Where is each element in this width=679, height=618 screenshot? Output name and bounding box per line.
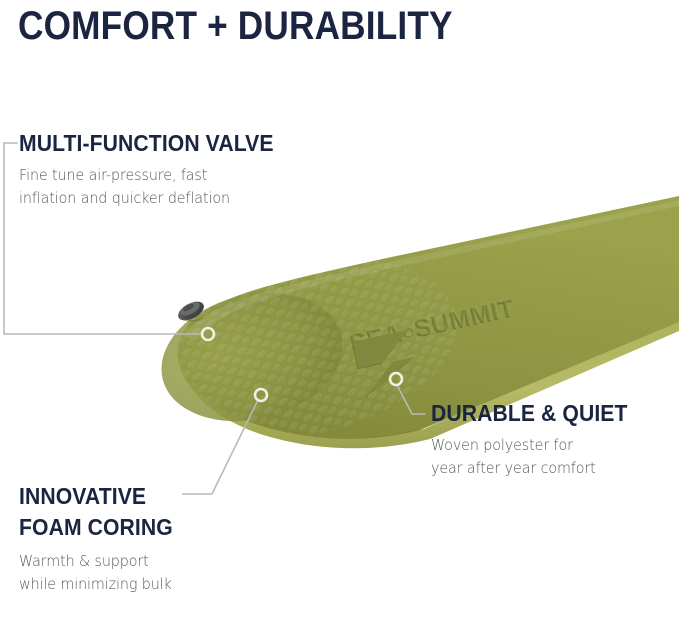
callout-body-durable: Woven polyester for year after year comf… bbox=[431, 434, 632, 480]
callout-body-line: year after year comfort bbox=[431, 457, 632, 480]
callout-body-line: inflation and quicker deflation bbox=[19, 187, 279, 210]
callout-heading-foam: INNOVATIVE FOAM CORING bbox=[19, 481, 173, 543]
callout-heading-line: INNOVATIVE bbox=[19, 481, 173, 512]
callout-body-line: while minimizing bulk bbox=[19, 573, 176, 596]
callout-body-foam: Warmth & support while minimizing bulk bbox=[19, 550, 176, 596]
infographic-page: COMFORT + DURABILITY bbox=[0, 0, 679, 618]
callout-multi-function-valve: MULTI-FUNCTION VALVE Fine tune air-press… bbox=[19, 130, 296, 210]
callout-heading-durable: DURABLE & QUIET bbox=[431, 400, 628, 427]
callout-body-line: Fine tune air-pressure, fast bbox=[19, 164, 279, 187]
callout-body-valve: Fine tune air-pressure, fast inflation a… bbox=[19, 164, 279, 210]
callout-heading-valve: MULTI-FUNCTION VALVE bbox=[19, 130, 274, 157]
callout-durable-and-quiet: DURABLE & QUIET Woven polyester for year… bbox=[431, 400, 645, 480]
callout-heading-line: FOAM CORING bbox=[19, 512, 173, 543]
callout-body-line: Woven polyester for bbox=[431, 434, 632, 457]
callout-innovative-foam-coring: INNOVATIVE FOAM CORING Warmth & support … bbox=[19, 481, 186, 596]
callout-body-line: Warmth & support bbox=[19, 550, 176, 573]
